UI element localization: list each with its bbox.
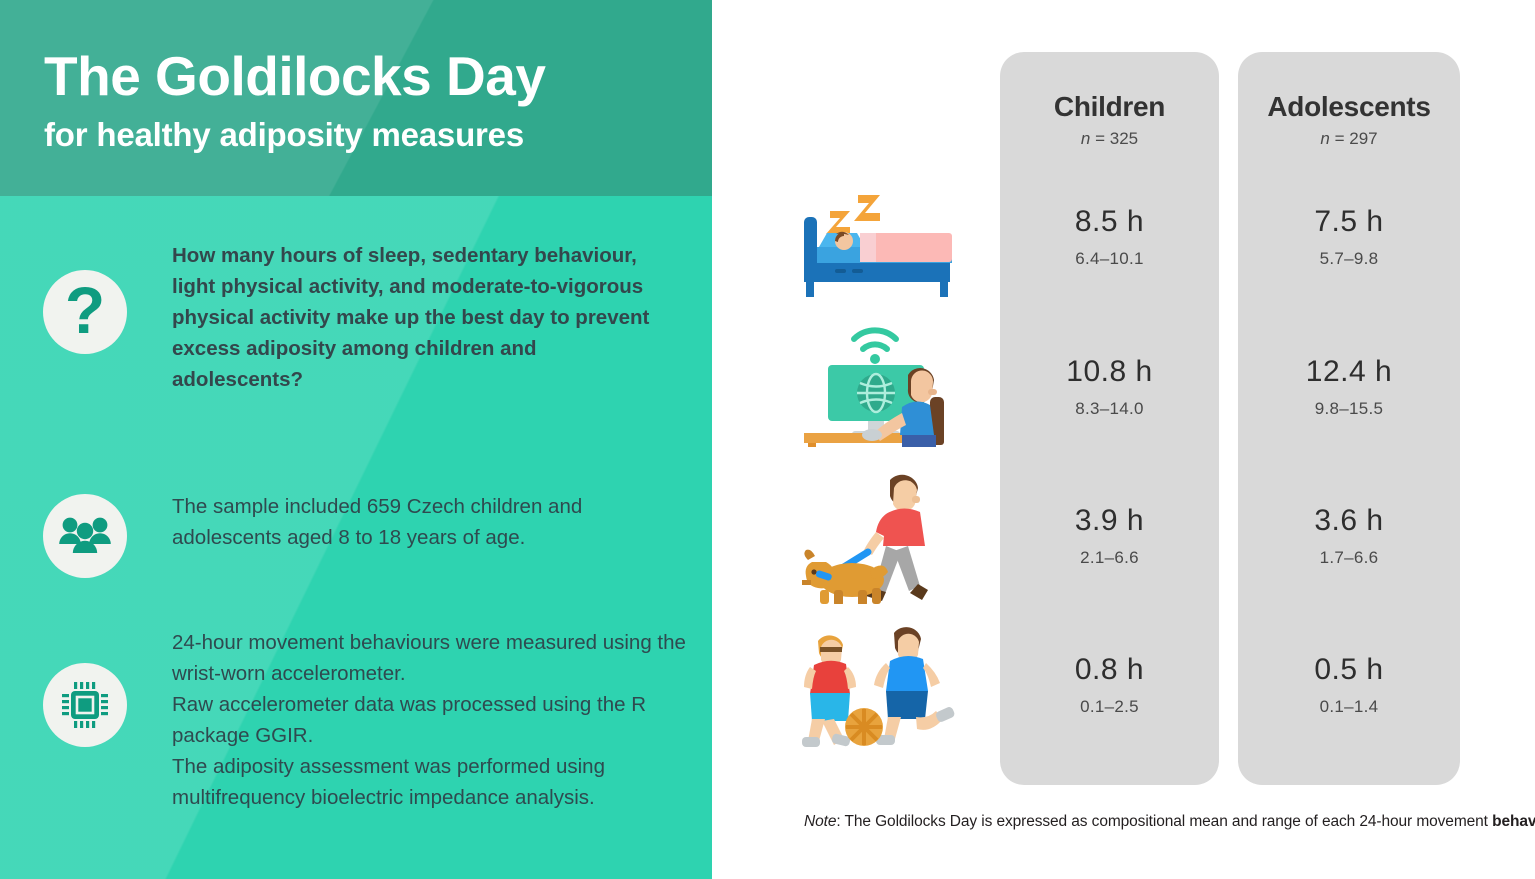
bullet-question-text: How many hours of sleep, sedentary behav…	[172, 240, 672, 395]
page-subtitle: for healthy adiposity measures	[44, 118, 524, 151]
cell-adolescents-sleep: 7.5 h 5.7–9.8	[1238, 207, 1460, 267]
value-children-mvpa: 0.8 h	[1000, 655, 1219, 685]
n-symbol-adolescents: n	[1320, 129, 1329, 148]
results-card-adolescents: Adolescents n = 297 7.5 h 5.7–9.8 12.4 h…	[1238, 52, 1460, 785]
person-at-computer-icon	[790, 315, 962, 435]
n-value-children: = 325	[1095, 129, 1138, 148]
column-header-children: Children	[1000, 91, 1219, 123]
range-children-sedentary: 8.3–14.0	[1000, 400, 1219, 417]
range-adolescents-lpa: 1.7–6.6	[1238, 549, 1460, 566]
children-playing-ball-icon	[790, 625, 962, 745]
footnote-label: Note	[804, 813, 836, 830]
value-adolescents-sleep: 7.5 h	[1238, 207, 1460, 237]
cell-children-sleep: 8.5 h 6.4–10.1	[1000, 207, 1219, 267]
value-children-sleep: 8.5 h	[1000, 207, 1219, 237]
n-symbol-children: n	[1081, 129, 1090, 148]
column-header-adolescents: Adolescents	[1238, 91, 1460, 123]
cell-adolescents-mvpa: 0.5 h 0.1–1.4	[1238, 655, 1460, 715]
results-panel: Children n = 325 8.5 h 6.4–10.1 10.8 h 8…	[712, 0, 1535, 879]
left-info-panel: The Goldilocks Day for healthy adiposity…	[0, 0, 712, 879]
range-children-mvpa: 0.1–2.5	[1000, 698, 1219, 715]
cell-children-lpa: 3.9 h 2.1–6.6	[1000, 506, 1219, 566]
value-children-sedentary: 10.8 h	[1000, 357, 1219, 387]
range-children-sleep: 6.4–10.1	[1000, 250, 1219, 267]
title-band: The Goldilocks Day for healthy adiposity…	[0, 0, 712, 196]
range-adolescents-mvpa: 0.1–1.4	[1238, 698, 1460, 715]
n-value-adolescents: = 297	[1335, 129, 1378, 148]
cell-children-mvpa: 0.8 h 0.1–2.5	[1000, 655, 1219, 715]
value-adolescents-sedentary: 12.4 h	[1238, 357, 1460, 387]
bullet-sample-text: The sample included 659 Czech children a…	[172, 491, 682, 553]
cell-adolescents-sedentary: 12.4 h 9.8–15.5	[1238, 357, 1460, 417]
range-children-lpa: 2.1–6.6	[1000, 549, 1219, 566]
footnote-body: : The Goldilocks Day is expressed as com…	[836, 813, 1492, 830]
footnote: Note: The Goldilocks Day is expressed as…	[804, 813, 1535, 831]
walking-the-dog-icon	[790, 462, 962, 582]
results-card-children: Children n = 325 8.5 h 6.4–10.1 10.8 h 8…	[1000, 52, 1219, 785]
microchip-icon	[43, 663, 127, 747]
range-adolescents-sedentary: 9.8–15.5	[1238, 400, 1460, 417]
footnote-emphasis: behaviour	[1492, 813, 1535, 830]
value-children-lpa: 3.9 h	[1000, 506, 1219, 536]
sleeping-in-bed-icon	[790, 185, 962, 305]
question-mark-icon: ?	[43, 270, 127, 354]
cell-adolescents-lpa: 3.6 h 1.7–6.6	[1238, 506, 1460, 566]
value-adolescents-lpa: 3.6 h	[1238, 506, 1460, 536]
column-n-children: n = 325	[1000, 129, 1219, 149]
cell-children-sedentary: 10.8 h 8.3–14.0	[1000, 357, 1219, 417]
question-mark-glyph: ?	[65, 277, 105, 343]
group-of-people-icon	[43, 494, 127, 578]
range-adolescents-sleep: 5.7–9.8	[1238, 250, 1460, 267]
bullet-methods-text: 24-hour movement behaviours were measure…	[172, 627, 692, 813]
page-title: The Goldilocks Day	[44, 49, 545, 104]
column-n-adolescents: n = 297	[1238, 129, 1460, 149]
value-adolescents-mvpa: 0.5 h	[1238, 655, 1460, 685]
